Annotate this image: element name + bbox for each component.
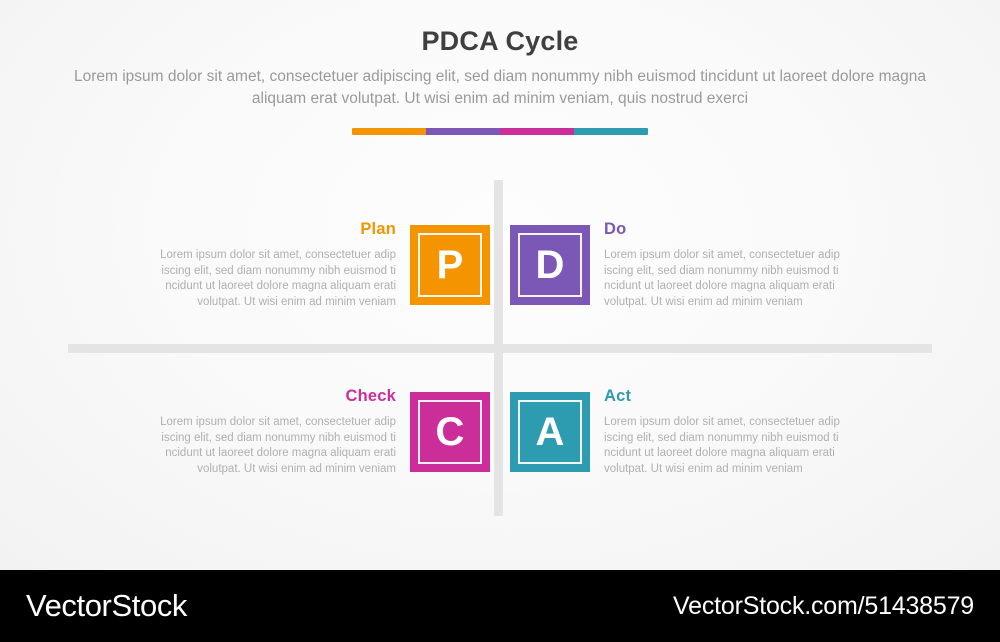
quadrant-act-badge: A — [510, 392, 590, 472]
quadrant-do-text: Do Lorem ipsum dolor sit amet, consectet… — [590, 220, 940, 310]
quadrant-do-letter: D — [536, 245, 565, 285]
quadrant-plan: Plan Lorem ipsum dolor sit amet, consect… — [60, 190, 490, 340]
quadrant-check-badge: C — [410, 392, 490, 472]
accent-segment-check — [500, 128, 574, 135]
quadrant-check: Check Lorem ipsum dolor sit amet, consec… — [60, 357, 490, 507]
vectorstock-logo: VectorStock — [26, 588, 187, 624]
quadrant-do-title: Do — [604, 220, 926, 239]
header: PDCA Cycle Lorem ipsum dolor sit amet, c… — [0, 0, 1000, 110]
quadrant-plan-letter: P — [437, 245, 464, 285]
quadrant-plan-description: Lorem ipsum dolor sit amet, consectetuer… — [128, 248, 396, 310]
quadrant-grid: Plan Lorem ipsum dolor sit amet, consect… — [0, 180, 1000, 520]
quadrant-act-description: Lorem ipsum dolor sit amet, consectetuer… — [604, 415, 872, 477]
accent-segment-plan — [352, 128, 426, 135]
quadrant-act: Act Lorem ipsum dolor sit amet, consecte… — [510, 357, 940, 507]
accent-color-bar — [352, 128, 648, 135]
quadrant-plan-text: Plan Lorem ipsum dolor sit amet, consect… — [60, 220, 410, 310]
page-subtitle: Lorem ipsum dolor sit amet, consectetuer… — [60, 66, 940, 110]
watermark-footer: VectorStock VectorStock.com/51438579 — [0, 570, 1000, 642]
accent-segment-do — [426, 128, 500, 135]
quadrant-do-badge: D — [510, 225, 590, 305]
quadrant-act-title: Act — [604, 387, 926, 406]
quadrant-check-description: Lorem ipsum dolor sit amet, consectetuer… — [128, 415, 396, 477]
quadrant-do: Do Lorem ipsum dolor sit amet, consectet… — [510, 190, 940, 340]
page-title: PDCA Cycle — [0, 26, 1000, 57]
accent-segment-act — [574, 128, 648, 135]
quadrant-do-description: Lorem ipsum dolor sit amet, consectetuer… — [604, 248, 872, 310]
quadrant-act-letter: A — [536, 412, 565, 452]
infographic-canvas: PDCA Cycle Lorem ipsum dolor sit amet, c… — [0, 0, 1000, 570]
quadrant-act-text: Act Lorem ipsum dolor sit amet, consecte… — [590, 387, 940, 477]
quadrant-check-letter: C — [436, 412, 465, 452]
vectorstock-url: VectorStock.com/51438579 — [673, 592, 974, 621]
quadrant-check-text: Check Lorem ipsum dolor sit amet, consec… — [60, 387, 410, 477]
quadrant-plan-title: Plan — [74, 220, 396, 239]
quadrant-check-title: Check — [74, 387, 396, 406]
quadrant-plan-badge: P — [410, 225, 490, 305]
